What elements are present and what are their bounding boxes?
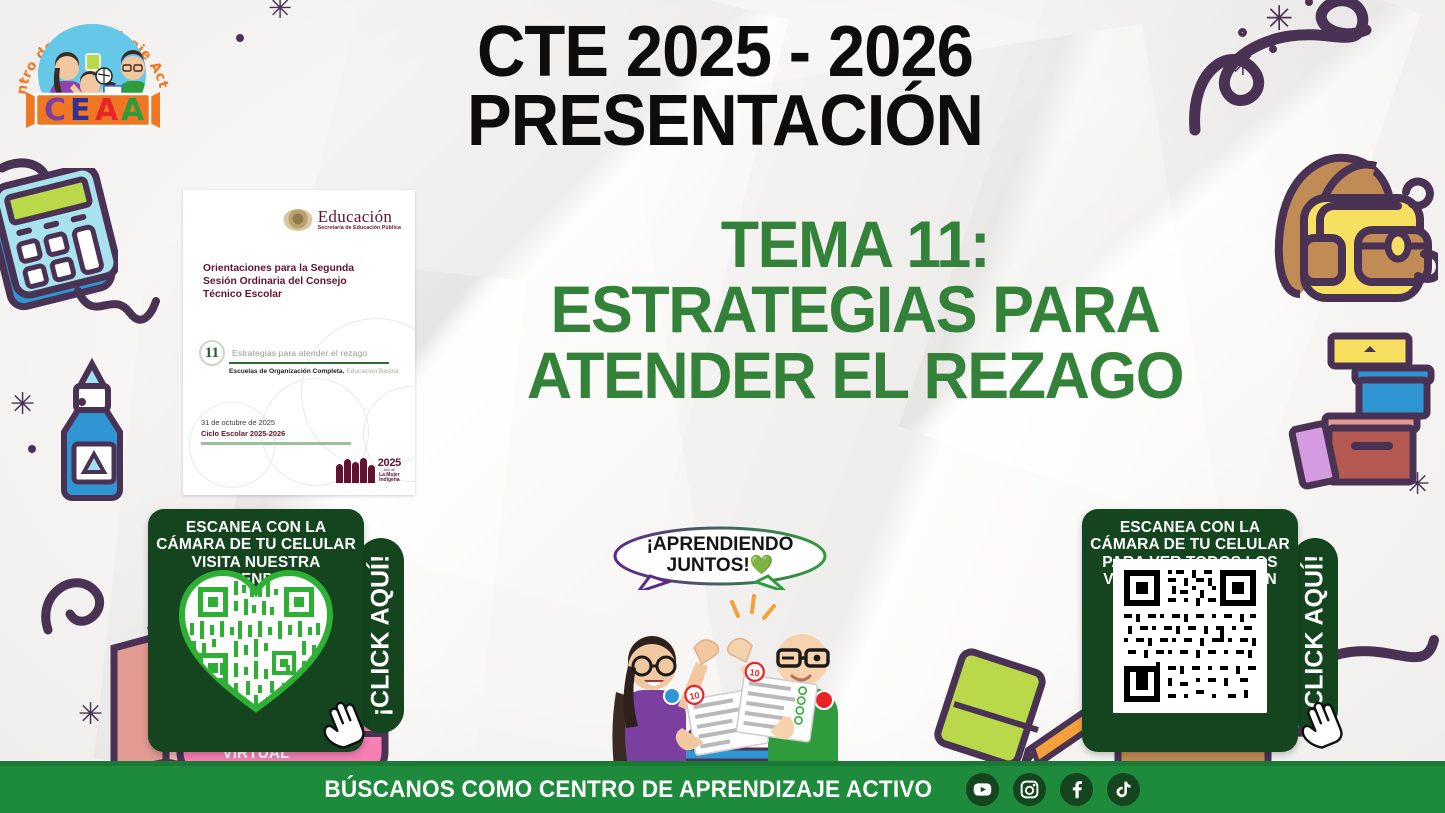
mujer-indigena-badge: 2025 Año de La Mujer Indígena [336,458,401,483]
qr-card-videos[interactable]: ESCANEA CON LA CÁMARA DE TU CELULAR [1082,509,1298,752]
instagram-icon[interactable] [1013,773,1046,806]
dot-doodle [236,34,244,42]
swirl-doodle [36,560,146,670]
title-line-2: PRESENTACIÓN [404,86,1046,157]
teachers-illustration: 10 10 [586,588,876,768]
swirl-doodle [1180,0,1445,140]
dot-doodle [1410,425,1418,433]
tema-line-1: TEMA 11: [461,212,1250,277]
document-school-type: Escuelas de Organización Completa. Educa… [229,368,405,375]
document-date: 31 de octubre de 2025 [201,418,285,429]
divider [229,362,389,364]
sep-title: Educación [318,208,401,225]
eagle-emblem-icon [283,209,313,231]
qr-right-top-line-1: ESCANEA CON LA [1082,519,1298,536]
page-title: CTE 2025 - 2026 PRESENTACIÓN [380,18,1070,157]
dot-doodle [1238,28,1247,37]
swirl-doodle [0,150,114,270]
squiggle-doodle [72,285,162,335]
session-number-badge: 11 [199,340,225,366]
tema-heading: TEMA 11: ESTRATEGIAS PARA ATENDER EL REZ… [440,212,1270,408]
qr-right-top-text: ESCANEA CON LA CÁMARA DE TU CELULAR [1082,509,1298,554]
pointer-hand-icon [318,700,370,752]
facebook-icon[interactable] [1060,773,1093,806]
asterisk-doodle: ✳ [268,0,292,23]
footer-bar: BÚSCANOS COMO CENTRO DE APRENDIZAJE ACTI… [0,766,1445,813]
ceaa-logo: Centro de Aprendizaje Activo [10,2,175,147]
qr-left-top-line-2: CÁMARA DE TU CELULAR [148,536,364,553]
square-qr-code[interactable] [1113,559,1267,713]
dot-doodle [78,398,86,406]
heart-qr-code[interactable] [176,565,336,713]
logo-letter-a2: A [121,93,145,128]
bubble-line-1: ¡APRENDIENDO [612,534,828,555]
logo-letter-a1: A [95,93,119,128]
youtube-icon[interactable] [966,773,999,806]
logo-banner: C E A A [26,86,160,134]
divider [201,442,351,445]
click-here-label: ¡CLICK AQUÍ! [1301,555,1330,717]
poster-canvas: ✳ ✳ ✳ ✳ ✳ ✳ [0,0,1445,813]
tema-line-2: ESTRATEGIAS PARA [461,277,1250,342]
document-cycle: Ciclo Escolar 2025-2026 [201,429,285,438]
eraser-doodle [930,640,1070,770]
qr-right-top-line-2: CÁMARA DE TU CELULAR [1082,536,1298,553]
asterisk-doodle: ✳ [1230,50,1256,81]
badge-line-3: Indígena [378,478,401,483]
asterisk-doodle: ✳ [1265,2,1294,36]
glue-bottle-doodle [52,358,140,503]
svg-text:10: 10 [749,667,760,678]
backpack-doodle [1258,142,1438,317]
title-line-1: CTE 2025 - 2026 [404,18,1046,86]
asterisk-doodle: ✳ [10,390,35,420]
click-here-label: ¡CLICK AQUÍ! [367,555,396,717]
sep-logo: Educación Secretaría de Educación Públic… [283,208,401,231]
decor-circle [189,402,275,488]
logo-letter-e: E [70,93,91,128]
dot-doodle [1418,370,1427,379]
tema-line-3: ATENDER EL REZAGO [461,343,1250,408]
dot-doodle [28,445,36,453]
qr-left-top-line-1: ESCANEA CON LA [148,519,364,536]
school-type-bold: Escuelas de Organización Completa. [229,368,344,375]
speech-bubble-text: ¡APRENDIENDO JUNTOS!💚 [612,534,828,577]
bubble-line-2: JUNTOS!💚 [612,555,828,576]
school-type-light: Educación Básica [344,368,398,375]
dot-doodle [1305,0,1313,6]
document-heading: Orientaciones para la Segunda Sesión Ord… [203,262,373,302]
logo-letter-c: C [44,93,66,128]
footer-text: BÚSCANOS COMO CENTRO DE APRENDIZAJE ACTI… [325,776,933,804]
tiktok-icon[interactable] [1107,773,1140,806]
mujer-figures-icon [336,458,375,483]
document-cover-thumbnail[interactable]: Educación Secretaría de Educación Públic… [183,190,415,495]
dot-doodle [1269,45,1277,53]
pointer-hand-icon [1296,700,1348,752]
asterisk-doodle: ✳ [1405,470,1430,500]
qr-left-top-text: ESCANEA CON LA CÁMARA DE TU CELULAR [148,509,364,554]
calculator-doodle [0,168,118,313]
document-date-block: 31 de octubre de 2025 Ciclo Escolar 2025… [201,418,285,439]
asterisk-doodle: ✳ [78,700,103,730]
svg-text:10: 10 [689,690,701,702]
session-label: Estrategias para atender el rezago [232,348,367,358]
sep-subtitle: Secretaría de Educación Pública [318,226,401,231]
